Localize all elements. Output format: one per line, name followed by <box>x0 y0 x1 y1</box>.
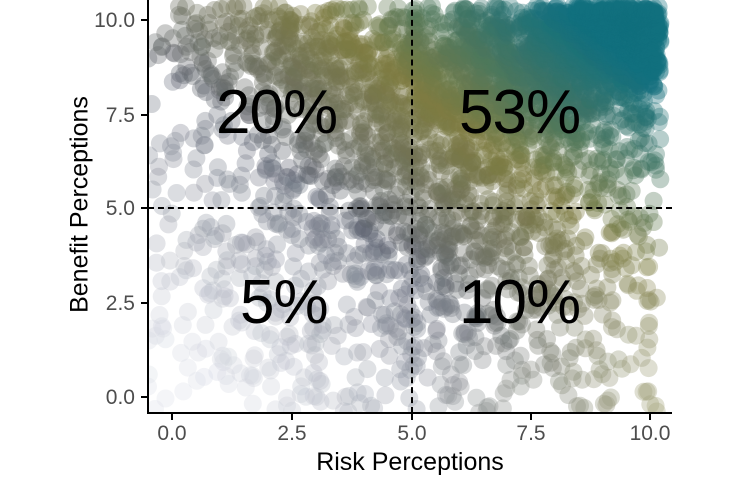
x-tick-label-7-5: 7.5 <box>496 422 566 446</box>
scatter-points-layer <box>148 0 672 413</box>
x-tick-label-2-5: 2.5 <box>257 422 327 446</box>
x-tick-label-0: 0.0 <box>137 422 207 446</box>
quadrant-label-top-right: 53% <box>459 82 580 144</box>
quadrant-label-bottom-left: 5% <box>240 272 328 334</box>
scatter-plot-figure: 20% 53% 5% 10% 10.0 7.5 5.0 2.5 0.0 0.0 … <box>0 0 741 486</box>
x-tick-mark-7-5 <box>530 414 532 420</box>
y-axis-line <box>147 0 149 414</box>
y-axis-title: Benefit Perceptions <box>66 0 95 415</box>
x-tick-mark-5 <box>411 414 413 420</box>
quadrant-label-top-left: 20% <box>216 82 337 144</box>
quadrant-label-bottom-right: 10% <box>459 272 580 334</box>
x-tick-label-5: 5.0 <box>377 422 447 446</box>
x-tick-label-10: 10.0 <box>615 422 685 446</box>
x-tick-mark-0 <box>171 414 173 420</box>
plot-panel: 20% 53% 5% 10% <box>148 0 672 413</box>
x-axis-title: Risk Perceptions <box>148 448 672 477</box>
y-tick-mark-2-5 <box>141 302 147 304</box>
x-tick-mark-2-5 <box>291 414 293 420</box>
y-tick-mark-10 <box>141 19 147 21</box>
x-tick-mark-10 <box>649 414 651 420</box>
x-axis-line <box>147 412 672 414</box>
y-tick-mark-7-5 <box>141 114 147 116</box>
y-tick-mark-0 <box>141 396 147 398</box>
y-tick-mark-5 <box>141 207 147 209</box>
